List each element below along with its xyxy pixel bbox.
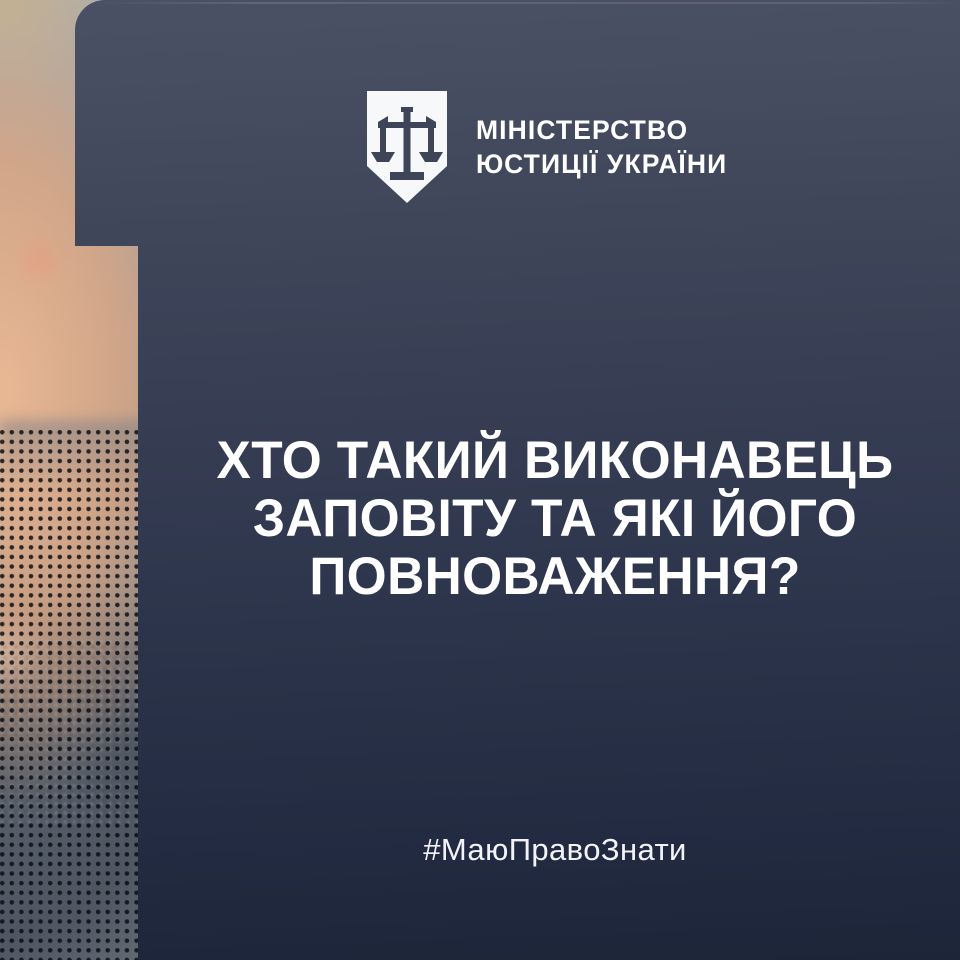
panel-top-sheen	[95, 2, 960, 4]
headline-line-2: ЗАПОВІТУ ТА ЯКІ ЙОГО	[162, 490, 948, 548]
headline-line-1: ХТО ТАКИЙ ВИКОНАВЕЦЬ	[162, 432, 948, 490]
logo-line-2: ЮСТИЦІЇ УКРАЇНИ	[476, 147, 727, 181]
headline-line-3: ПОВНОВАЖЕННЯ?	[162, 548, 948, 606]
logo-line-1: МІНІСТЕРСТВО	[476, 113, 727, 147]
shield-scales-icon	[364, 88, 450, 206]
poster-canvas: МІНІСТЕРСТВО ЮСТИЦІЇ УКРАЇНИ ХТО ТАКИЙ В…	[0, 0, 960, 960]
ministry-logo: МІНІСТЕРСТВО ЮСТИЦІЇ УКРАЇНИ	[364, 88, 727, 206]
ministry-logo-text: МІНІСТЕРСТВО ЮСТИЦІЇ УКРАЇНИ	[476, 113, 727, 182]
headline: ХТО ТАКИЙ ВИКОНАВЕЦЬ ЗАПОВІТУ ТА ЯКІ ЙОГ…	[162, 432, 948, 606]
hashtag-label: #МаюПравоЗнати	[150, 832, 960, 868]
